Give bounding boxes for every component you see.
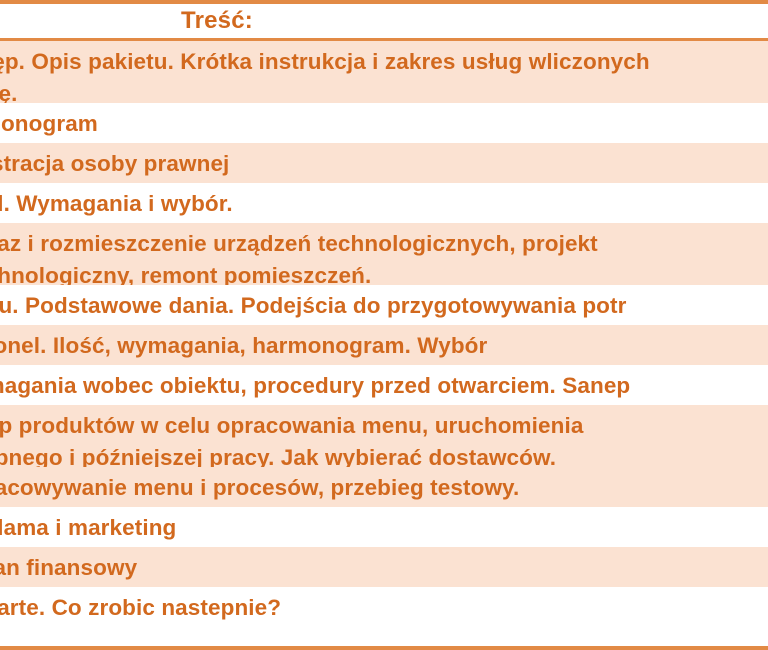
table-row[interactable]: eklama i marketing xyxy=(0,507,768,547)
table-row[interactable]: stęp. Opis pakietu. Krótka instrukcja i … xyxy=(0,41,768,103)
table-cell-content: stęp. Opis pakietu. Krótka instrukcja i … xyxy=(0,41,650,103)
content-table: Treść: stęp. Opis pakietu. Krótka instru… xyxy=(0,0,768,650)
table-cell-content: pracowywanie menu i procesów, przebieg t… xyxy=(0,467,519,504)
table-row[interactable]: ykaz i rozmieszczenie urządzeń technolog… xyxy=(0,223,768,285)
column-header-tresc: Treść: xyxy=(181,9,253,33)
table-row[interactable]: rsonel. Ilość, wymagania, harmonogram. W… xyxy=(0,325,768,365)
table-cell-content: kal. Wymagania i wybór. xyxy=(0,183,233,220)
table-body: stęp. Opis pakietu. Krótka instrukcja i … xyxy=(0,41,768,627)
table-cell-content: twarte. Co zrobic nastepnie? xyxy=(0,587,281,624)
table-row[interactable]: rmonogram xyxy=(0,103,768,143)
table-cell-content: rsonel. Ilość, wymagania, harmonogram. W… xyxy=(0,325,487,362)
table-row[interactable]: ymagania wobec obiektu, procedury przed … xyxy=(0,365,768,405)
table-row[interactable]: Plan finansowy xyxy=(0,547,768,587)
table-cell-content: jestracja osoby prawnej xyxy=(0,143,229,180)
table-cell-content: ykaz i rozmieszczenie urządzeń technolog… xyxy=(0,223,598,285)
table-cell-content: enu. Podstawowe dania. Podejścia do przy… xyxy=(0,285,626,322)
table-row[interactable]: twarte. Co zrobic nastepnie? xyxy=(0,587,768,627)
table-cell-content: kup produktów w celu opracowania menu, u… xyxy=(0,405,583,467)
table-row[interactable]: jestracja osoby prawnej xyxy=(0,143,768,183)
table-row[interactable]: pracowywanie menu i procesów, przebieg t… xyxy=(0,467,768,507)
table-cell-content: Plan finansowy xyxy=(0,547,137,584)
table-cell-content: ymagania wobec obiektu, procedury przed … xyxy=(0,365,630,402)
table-cell-content: rmonogram xyxy=(0,103,98,140)
table-row[interactable]: enu. Podstawowe dania. Podejścia do przy… xyxy=(0,285,768,325)
table-row[interactable]: kal. Wymagania i wybór. xyxy=(0,183,768,223)
table-row[interactable]: kup produktów w celu opracowania menu, u… xyxy=(0,405,768,467)
table-cell-content: eklama i marketing xyxy=(0,507,176,544)
table-header-row: Treść: xyxy=(0,4,768,41)
